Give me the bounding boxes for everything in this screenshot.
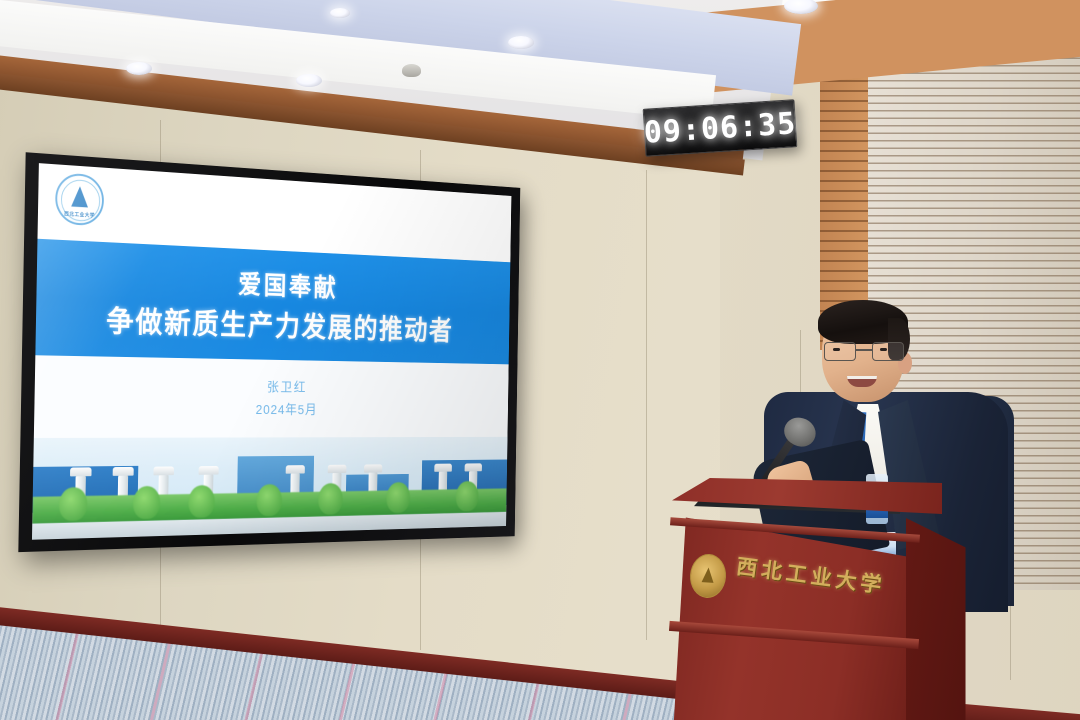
- campus-tree: [188, 485, 215, 518]
- emblem-caption: 西北工业大学: [57, 210, 102, 219]
- slide-date: 2024年5月: [256, 400, 318, 419]
- wall-seam-3: [646, 170, 647, 640]
- glasses-bridge: [856, 349, 872, 351]
- led-display-screen[interactable]: 西北工业大学 爱国奉献 争做新质生产力发展的推动者 张卫红 2024年5月: [18, 152, 520, 552]
- screen-surface: 西北工业大学 爱国奉献 争做新质生产力发展的推动者 张卫红 2024年5月: [32, 163, 511, 540]
- emblem-bird-icon: [71, 185, 88, 207]
- slide-byline: 张卫红 2024年5月: [34, 355, 509, 438]
- lectern-podium: 西北工业大学: [666, 478, 996, 720]
- nwpu-emblem-icon: 西北工业大学: [55, 172, 104, 226]
- scene-root: 09:06:35 西北工业大学 爱国奉献 争做新质生产力发展的推动者 张卫红: [0, 0, 1080, 720]
- downlight-icon: [126, 62, 152, 75]
- speaker-eye-left: [833, 348, 840, 351]
- slide-title-line-1: 爱国奉献: [238, 264, 338, 304]
- slide-author: 张卫红: [267, 378, 307, 397]
- smoke-detector-icon: [402, 64, 421, 77]
- presentation-slide: 西北工业大学 爱国奉献 争做新质生产力发展的推动者 张卫红 2024年5月: [32, 163, 511, 540]
- campus-tree: [256, 484, 282, 516]
- campus-tree: [132, 486, 160, 519]
- podium-side-panel: [906, 518, 1002, 720]
- slide-title-line-2: 争做新质生产力发展的推动者: [106, 297, 454, 348]
- campus-tree: [59, 487, 88, 521]
- glasses-lens-right: [872, 342, 904, 361]
- clock-time-display: 09:06:35: [643, 106, 797, 151]
- eyeglasses-icon: [824, 342, 904, 361]
- campus-tree: [456, 481, 479, 512]
- campus-photo: [32, 437, 508, 540]
- downlight-icon: [508, 36, 534, 49]
- digital-wall-clock[interactable]: 09:06:35: [643, 99, 798, 156]
- campus-tree: [386, 482, 410, 513]
- speaker-eye-right: [880, 348, 887, 351]
- downlight-icon: [330, 8, 350, 18]
- downlight-icon: [296, 74, 322, 87]
- glasses-lens-left: [824, 342, 856, 361]
- campus-tree: [318, 483, 343, 515]
